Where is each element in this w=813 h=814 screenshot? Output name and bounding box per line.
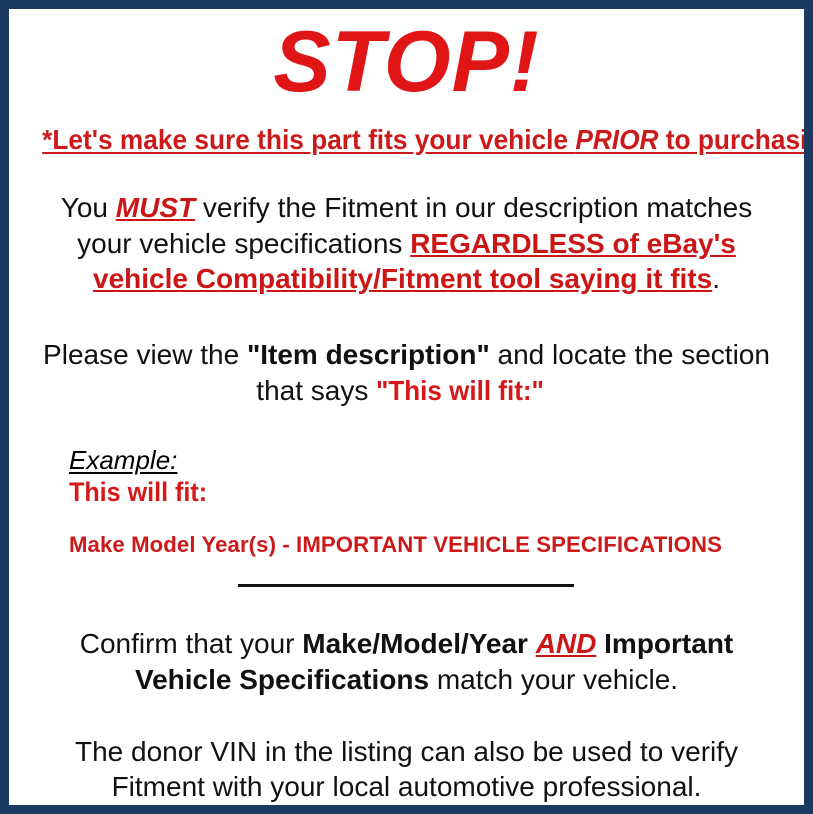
itemdesc-seg1: Please view the xyxy=(43,339,247,370)
paragraph-item-description: Please view the "Item description" and l… xyxy=(25,337,788,409)
confirm-seg3 xyxy=(596,628,604,659)
must-seg3: . xyxy=(712,263,720,294)
example-label: Example: xyxy=(69,445,177,475)
tagline: *Let's make sure this part fits your veh… xyxy=(42,123,771,156)
confirm-seg1: Confirm that your xyxy=(80,628,303,659)
example-spec-line: Make Model Year(s) - IMPORTANT VEHICLE S… xyxy=(69,532,777,558)
example-label-wrap: Example: xyxy=(69,445,788,475)
tagline-before: *Let's make sure this part fits your veh… xyxy=(42,124,575,155)
paragraph-donor-vin: The donor VIN in the listing can also be… xyxy=(25,734,788,806)
bold-item-description: "Item description" xyxy=(247,339,490,370)
tagline-after: to purchasing* xyxy=(659,124,813,155)
paragraph-confirm: Confirm that your Make/Model/Year AND Im… xyxy=(25,626,788,698)
fitment-notice-card: STOP! *Let's make sure this part fits yo… xyxy=(0,0,813,814)
notice-content: STOP! *Let's make sure this part fits yo… xyxy=(9,9,804,805)
bold-make-model-year: Make/Model/Year xyxy=(302,628,528,659)
example-block: Example: This will fit: Make Model Year(… xyxy=(25,445,788,558)
confirm-seg4: match your vehicle. xyxy=(429,664,678,695)
stop-headline: STOP! xyxy=(25,9,788,107)
emphasis-must: MUST xyxy=(116,192,195,223)
confirm-seg2 xyxy=(528,628,536,659)
must-seg1: You xyxy=(61,192,116,223)
paragraph-must: You MUST verify the Fitment in our descr… xyxy=(25,190,788,297)
emphasis-and: AND xyxy=(536,628,597,659)
divider-wrap xyxy=(25,584,788,596)
red-this-will-fit: "This will fit:" xyxy=(376,373,544,409)
tagline-emphasis-prior: PRIOR xyxy=(575,124,658,155)
example-fit-heading: This will fit: xyxy=(69,477,738,508)
section-divider xyxy=(238,584,574,587)
